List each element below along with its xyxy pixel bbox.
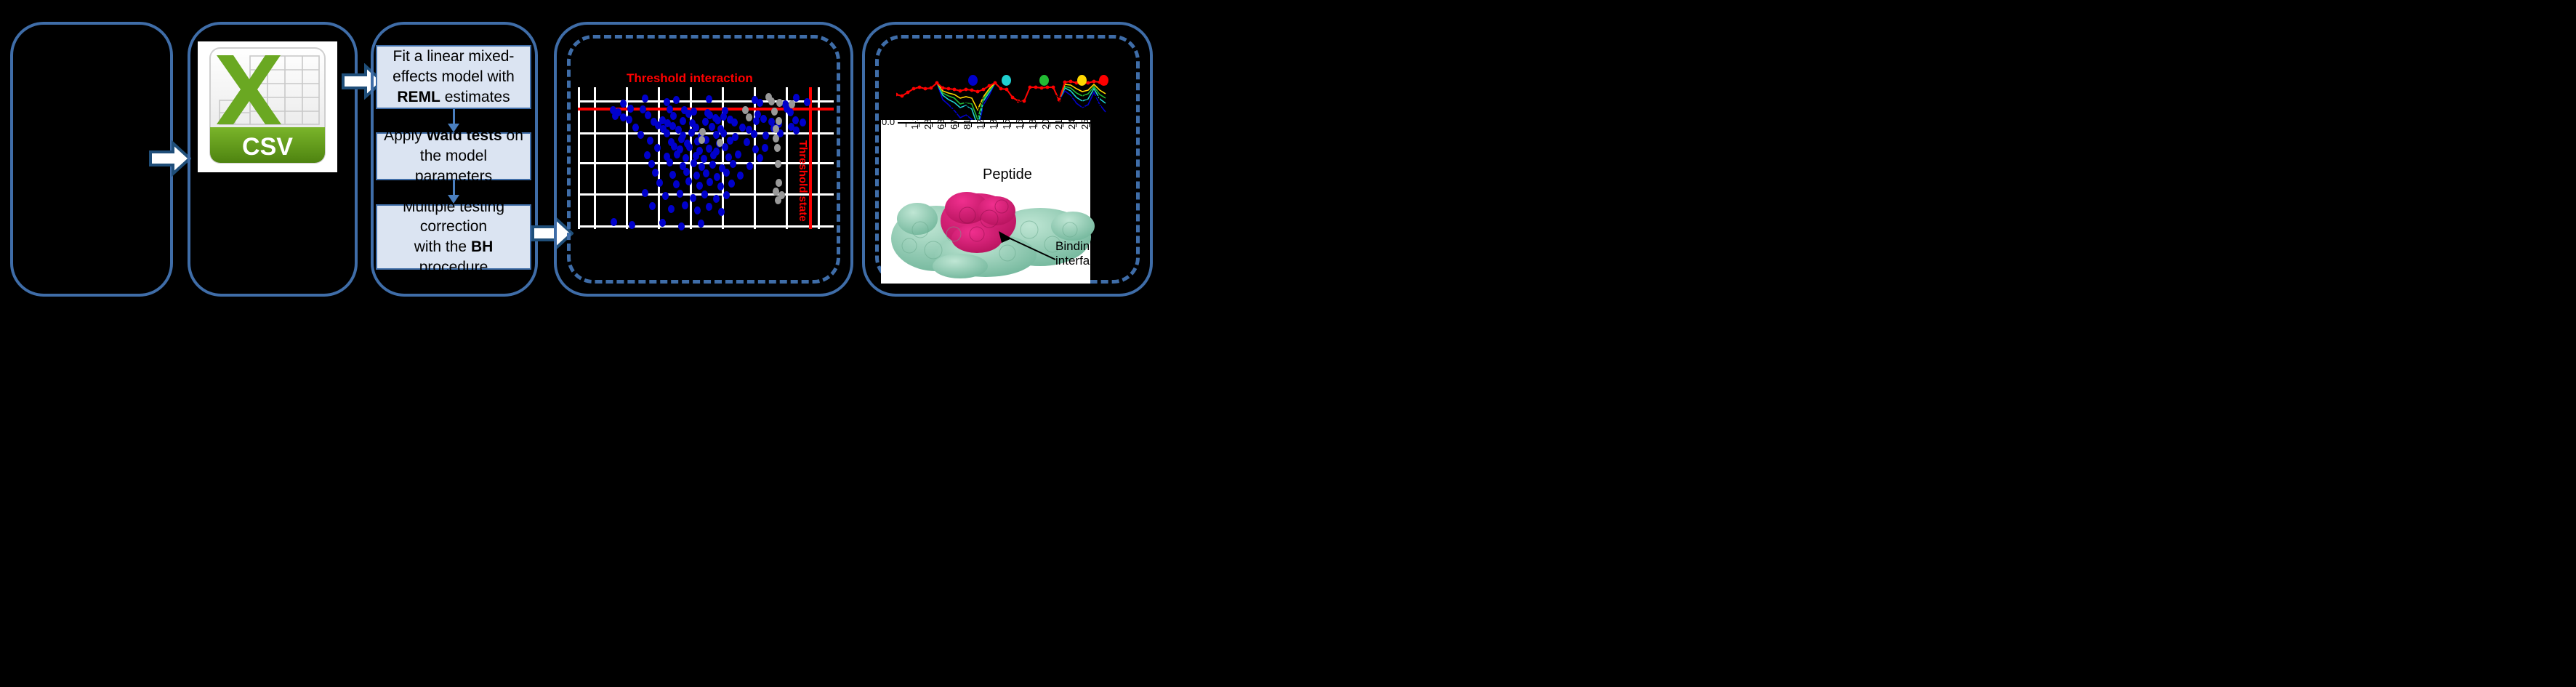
peptide-tick-2: 63-73 (935, 105, 946, 129)
step1-line3-rest: estimates (440, 89, 510, 105)
peptide-tick-13: 258-266 (1079, 95, 1090, 129)
step3-line1: Multiple testing (403, 198, 504, 215)
step3-pre: with the (414, 238, 471, 255)
step2-line2: the model parameters (415, 148, 492, 185)
peptide-tick-6: 135-144 (988, 95, 999, 129)
step1-line2: effects model with (393, 68, 515, 85)
legend-dot-t1 (968, 75, 978, 86)
step-fit-model[interactable]: Fit a linear mixed- effects model with R… (376, 45, 531, 109)
step3-post: procedure (419, 259, 488, 276)
peptide-tick-9: 184-199 (1027, 95, 1038, 129)
threshold-state-line (809, 87, 812, 229)
step-wald-tests[interactable]: Apply Wald tests on the model parameters (376, 132, 531, 180)
step1-line1: Fit a linear mixed- (393, 48, 515, 65)
peptide-tick-14: 277-284 (1092, 95, 1103, 129)
legend-dot-t5 (1099, 75, 1108, 86)
step1-reml: REML (397, 89, 440, 105)
peptide-tick-5: 122-129 (975, 95, 986, 129)
step2-post: on (502, 127, 523, 144)
legend-dot-t2 (1002, 75, 1011, 86)
peptide-tick-10: 200-214 (1040, 95, 1051, 129)
peptide-tick-12: 241-257 (1066, 95, 1077, 129)
scatter-plot (578, 87, 834, 229)
peptide-tick-7: 158-166 (1001, 95, 1012, 129)
step2-pre: Apply (384, 127, 426, 144)
legend-dot-t4 (1077, 75, 1087, 86)
diagram-canvas: CSV Fit a linear mixed- effects model wi… (0, 0, 2576, 687)
peptide-tick-8: 167-180 (1014, 95, 1025, 129)
threshold-interaction-label: Threshold interaction (627, 71, 753, 86)
peptide-tick-3: 67-75 (949, 105, 959, 129)
step-multiple-testing[interactable]: Multiple testing correction with the BH … (376, 204, 531, 270)
step3-bh: BH (471, 238, 493, 255)
csv-file-icon: CSV (208, 46, 327, 166)
step3-line2: correction (420, 218, 487, 235)
binding-interface-annotation: Binding interface (1055, 239, 1103, 268)
csv-label: CSV (242, 133, 293, 161)
peptide-tick-4: 81-101 (962, 100, 973, 129)
threshold-state-label: Threshold state (797, 140, 809, 222)
binding-line1: Binding (1055, 239, 1097, 253)
x-axis-title: Peptide (983, 166, 1032, 183)
legend-dot-t3 (1039, 75, 1049, 86)
peptide-tick-1: 28-44 (922, 105, 933, 129)
peptide-tick-0: 1-15 (909, 111, 920, 129)
arrow-input-to-csv (149, 140, 191, 177)
binding-line2: interface (1055, 254, 1103, 268)
peptide-tick-11: 218-237 (1053, 95, 1064, 129)
y-axis-tick-label: 0.0 (882, 116, 895, 127)
step2-wald: Wald tests (426, 127, 502, 144)
flow-connector-1 (453, 109, 455, 125)
